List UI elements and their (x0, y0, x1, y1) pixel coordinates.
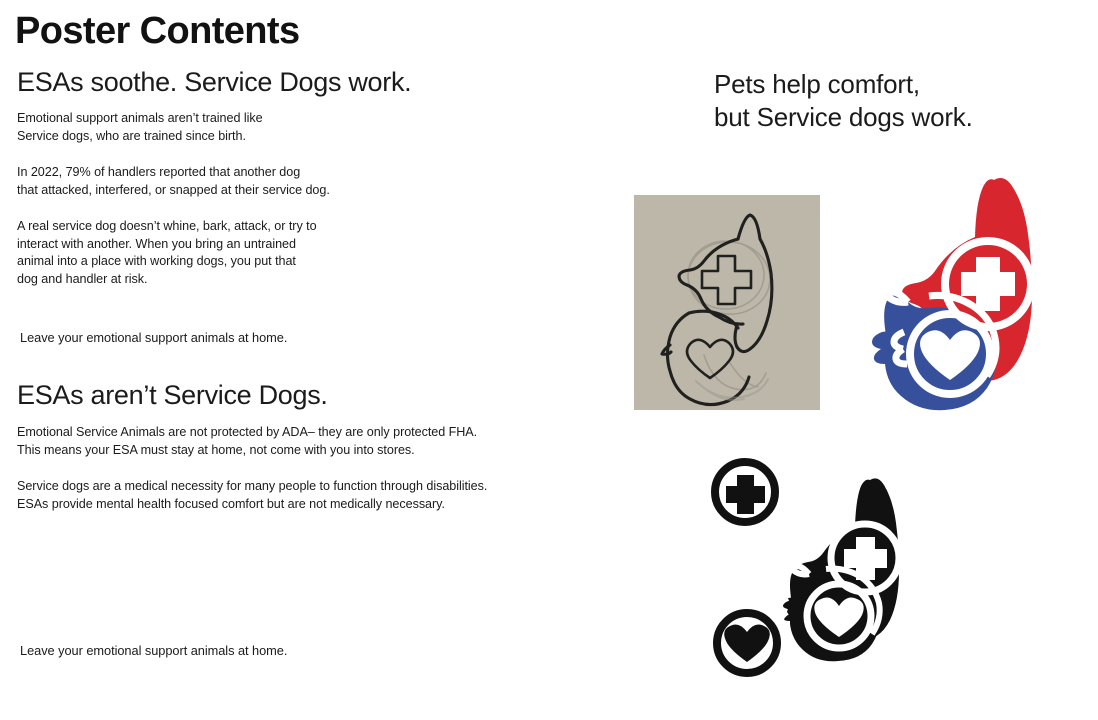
page-title: Poster Contents (15, 12, 299, 50)
paragraph-line: Emotional support animals aren’t trained… (17, 110, 263, 128)
paragraph-line: interact with another. When you bring an… (17, 236, 317, 254)
sketch-drawing-icon (634, 195, 820, 410)
paragraph-real-service-dog-behavior: A real service dog doesn’t whine, bark, … (17, 218, 317, 288)
call-to-action-section-one: Leave your emotional support animals at … (20, 329, 287, 347)
service-dog-and-pet-logo-icon (870, 172, 1080, 422)
color-logo-lockup (870, 172, 1080, 422)
paragraph-line: In 2022, 79% of handlers reported that a… (17, 164, 330, 182)
cross-circle-icon (715, 462, 775, 522)
poster-headline: Pets help comfort, but Service dogs work… (714, 68, 973, 134)
poster-contents-page: Poster Contents ESAs soothe. Service Dog… (0, 0, 1098, 720)
paragraph-line: ESAs provide mental health focused comfo… (17, 496, 487, 514)
section-heading-esas-arent-service-dogs: ESAs aren’t Service Dogs. (17, 381, 328, 409)
black-logo-lockup (710, 458, 930, 688)
paragraph-line: Service dogs, who are trained since birt… (17, 128, 263, 146)
paragraph-line: This means your ESA must stay at home, n… (17, 442, 477, 460)
paragraph-line: A real service dog doesn’t whine, bark, … (17, 218, 317, 236)
paragraph-line: that attacked, interfered, or snapped at… (17, 182, 330, 200)
paragraph-line: dog and handler at risk. (17, 271, 317, 289)
concept-sketch-photo (634, 195, 820, 410)
paragraph-line: Emotional Service Animals are not protec… (17, 424, 477, 442)
paragraph-ada-fha-protection: Emotional Service Animals are not protec… (17, 424, 477, 459)
poster-headline-line: Pets help comfort, (714, 68, 973, 101)
paragraph-line: animal into a place with working dogs, y… (17, 253, 317, 271)
heart-circle-icon (717, 613, 777, 673)
poster-headline-line: but Service dogs work. (714, 101, 973, 134)
section-heading-esas-soothe: ESAs soothe. Service Dogs work. (17, 68, 411, 96)
paragraph-medical-necessity: Service dogs are a medical necessity for… (17, 478, 487, 513)
call-to-action-section-two: Leave your emotional support animals at … (20, 642, 287, 660)
monochrome-logo-icon (710, 458, 930, 688)
paragraph-line: Service dogs are a medical necessity for… (17, 478, 487, 496)
paragraph-handler-statistic: In 2022, 79% of handlers reported that a… (17, 164, 330, 199)
paragraph-esa-not-trained: Emotional support animals aren’t trained… (17, 110, 263, 145)
right-visual-column: Pets help comfort, but Service dogs work… (620, 0, 1098, 720)
left-text-column: Poster Contents ESAs soothe. Service Dog… (0, 0, 620, 720)
